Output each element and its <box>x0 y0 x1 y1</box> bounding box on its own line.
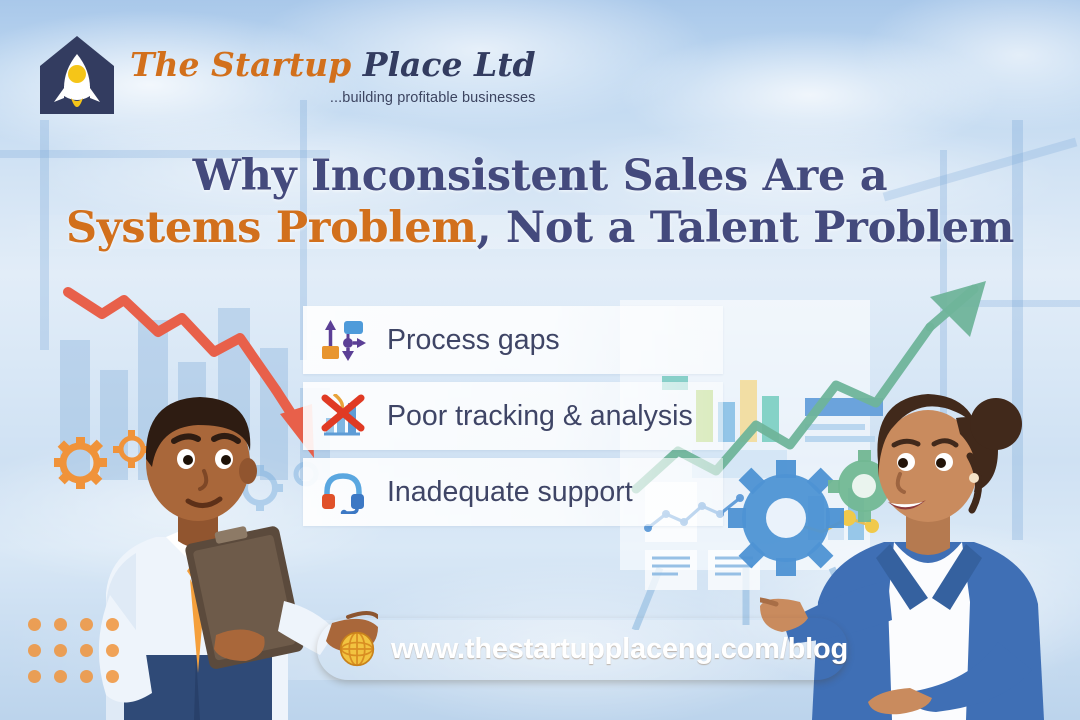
website-cta-banner[interactable]: www.thestartupplaceng.com/blog <box>317 618 848 680</box>
headline-emphasis: Systems Problem <box>66 203 477 253</box>
process-flow-icon <box>317 317 369 363</box>
globe-icon <box>339 628 375 670</box>
list-item: Poor tracking & analysis <box>303 382 723 450</box>
house-rocket-icon <box>38 32 116 118</box>
list-item: Process gaps <box>303 306 723 374</box>
poster-canvas: The Startup Place Ltd ...building profit… <box>0 0 1080 720</box>
orange-dot-grid <box>28 618 132 696</box>
brand-name-part1: The Startup <box>130 45 351 84</box>
gear-icon <box>48 425 158 495</box>
cloud-decor <box>860 0 1080 130</box>
cloud-decor <box>620 30 1000 160</box>
brand-tagline: ...building profitable businesses <box>130 90 536 106</box>
page-title: Why Inconsistent Sales Are a Systems Pro… <box>0 150 1080 255</box>
list-item: Inadequate support <box>303 458 723 526</box>
list-item-label: Inadequate support <box>387 476 633 509</box>
website-url: www.thestartupplaceng.com/blog <box>391 633 848 666</box>
headset-icon <box>317 469 369 515</box>
list-item-label: Process gaps <box>387 324 560 357</box>
headline-line-2: Systems Problem, Not a Talent Problem <box>0 202 1080 254</box>
list-item-label: Poor tracking & analysis <box>387 400 693 433</box>
crossed-out-bar-chart-icon <box>317 393 369 439</box>
brand-logo[interactable]: The Startup Place Ltd ...building profit… <box>38 32 536 118</box>
gear-icon <box>718 440 928 590</box>
window-frame-transom <box>960 300 1080 307</box>
pain-point-list: Process gaps Poor tracking & analysis <box>303 306 723 526</box>
headline-line2-rest: , Not a Talent Problem <box>477 203 1014 253</box>
headline-line-1: Why Inconsistent Sales Are a <box>0 150 1080 202</box>
red-declining-arrow <box>62 286 332 486</box>
brand-name: The Startup Place Ltd <box>130 48 536 81</box>
brand-name-part2: Place Ltd <box>363 45 536 84</box>
headline-line1-text: Why Inconsistent Sales Are a <box>193 151 888 201</box>
